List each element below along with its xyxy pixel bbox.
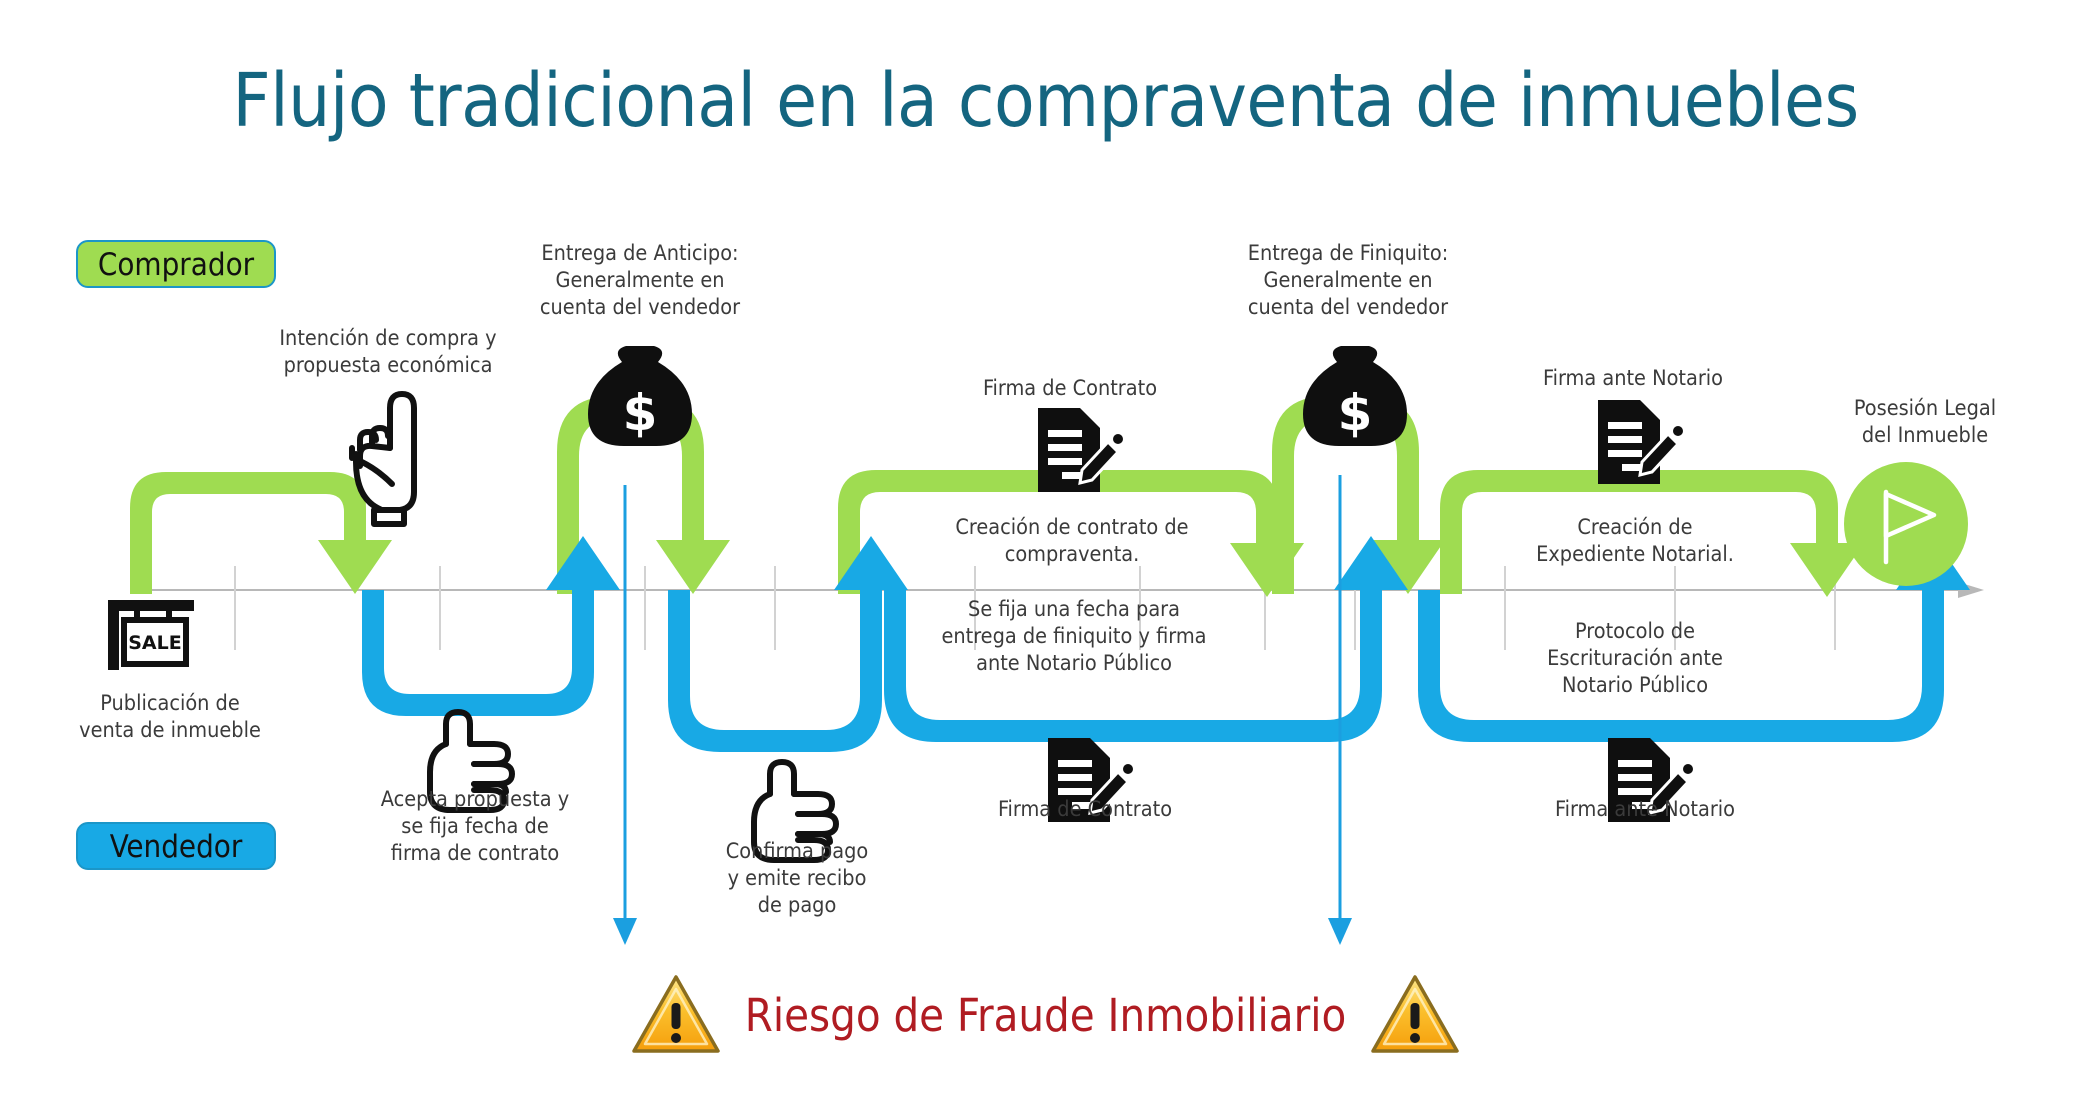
fraud-risk-arrow-1 [613,485,637,945]
money-bag-icon-2: $ [1303,346,1407,446]
legend-badge-comprador[interactable]: Comprador [76,240,276,288]
fraud-risk-label: Riesgo de Fraude Inmobiliario [745,989,1347,1042]
legend-badge-vendedor[interactable]: Vendedor [76,822,276,870]
svg-text:SALE: SALE [128,632,181,654]
money-bag-icon-1: $ [588,346,692,446]
sale-sign-icon: SALE [108,600,194,670]
caption-posesion-legal: Posesión Legal del Inmueble [1790,395,2060,449]
warning-triangle-icon-right [1370,972,1460,1058]
caption-firma-notario-comprador: Firma ante Notario [1498,365,1768,392]
caption-publicacion: Publicación de venta de inmueble [30,690,310,744]
svg-text:$: $ [1338,384,1373,442]
caption-intencion-compra: Intención de compra y propuesta económic… [238,325,538,379]
warning-triangle-icon-left [631,972,721,1058]
caption-firma-contrato-vendedor: Firma de Contrato [940,796,1230,823]
fraud-risk-banner: Riesgo de Fraude Inmobiliario [0,972,2091,1058]
possession-end-node [1844,462,1968,586]
infographic-canvas: Flujo tradicional en la compraventa de i… [0,0,2091,1115]
caption-creacion-contrato: Creación de contrato de compraventa. [912,514,1232,568]
caption-fecha-finiquito: Se fija una fecha para entrega de finiqu… [894,596,1254,677]
caption-expediente-notarial: Creación de Expediente Notarial. [1490,514,1780,568]
fraud-risk-arrow-2 [1328,475,1352,945]
caption-acepta-propuesta: Acepta propuesta y se fija fecha de firm… [330,786,620,867]
caption-entrega-finiquito: Entrega de Finiquito: Generalmente en cu… [1218,240,1478,321]
caption-confirma-pago: Confirma pago y emite recibo de pago [672,838,922,919]
svg-text:$: $ [623,384,658,442]
caption-firma-contrato-comprador: Firma de Contrato [910,375,1230,402]
caption-entrega-anticipo: Entrega de Anticipo: Generalmente en cue… [510,240,770,321]
caption-firma-notario-vendedor: Firma ante Notario [1500,796,1790,823]
caption-protocolo-escrituracion: Protocolo de Escrituración ante Notario … [1490,618,1780,699]
